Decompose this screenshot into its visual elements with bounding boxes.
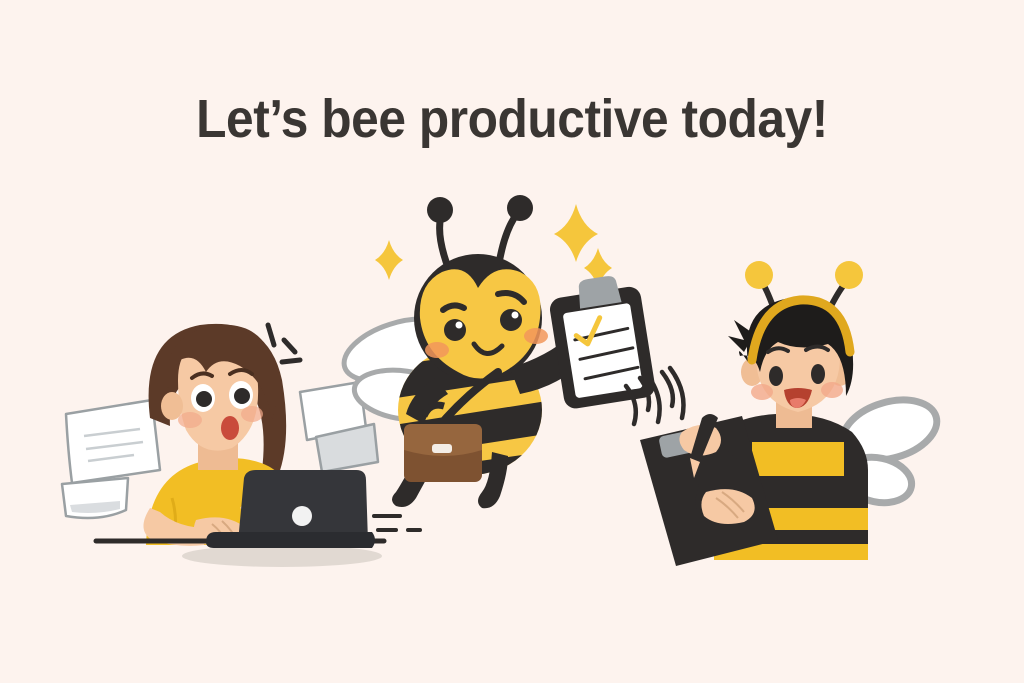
laptop-shadow xyxy=(182,545,382,567)
girl-blush-right xyxy=(241,406,263,422)
bee-blush-left xyxy=(425,342,449,358)
girl-ear xyxy=(161,392,183,420)
sparkle-small xyxy=(375,240,403,280)
sparkle-large xyxy=(554,204,598,262)
boy-blush-left xyxy=(751,384,773,400)
shirt-stripe-upper xyxy=(752,442,844,476)
flying-bee xyxy=(336,195,683,508)
bee-blush-right xyxy=(524,328,548,344)
boy-blush-right xyxy=(821,382,843,398)
scene-artwork xyxy=(0,0,1024,683)
paper-left-upper xyxy=(66,400,160,483)
laptop-logo xyxy=(292,506,312,526)
bee-clipboard xyxy=(546,271,657,410)
motion-lines-laptop xyxy=(374,516,420,530)
girl-blush-left xyxy=(178,412,202,428)
boy-in-bee-costume xyxy=(640,261,944,568)
illustration-canvas: Let’s bee productive today! xyxy=(0,0,1024,683)
briefcase-latch xyxy=(432,444,452,453)
girl-mouth xyxy=(221,416,239,440)
paper-left-lower xyxy=(62,478,128,518)
